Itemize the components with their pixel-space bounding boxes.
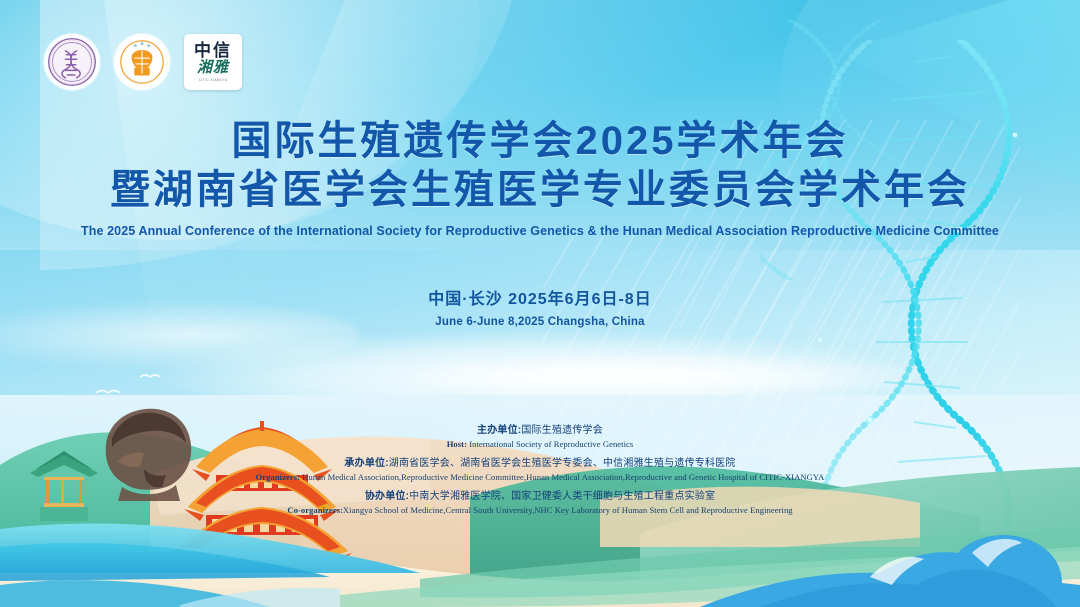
citic-mid-text: 湘雅 (197, 61, 229, 76)
organizers-chinese-label: 承办单位: (344, 458, 388, 469)
host-chinese: 主办单位:国际生殖遗传学会 (0, 424, 1080, 437)
cloud-band (150, 330, 930, 416)
host-chinese-value: 国际生殖遗传学会 (521, 425, 603, 436)
host-chinese-label: 主办单位: (477, 425, 521, 436)
host-english-label: Host: (447, 439, 467, 449)
title-chinese-line1: 国际生殖遗传学会2025学术年会 (0, 118, 1080, 164)
title-chinese-line2: 暨湖南省医学会生殖医学专业委员会学术年会 (0, 166, 1080, 214)
host-english-value: International Society of Reproductive Ge… (469, 439, 633, 449)
organizer-row-organizers: 承办单位:湖南省医学会、湖南省医学会生殖医学专委会、中信湘雅生殖与遗传专科医院 … (0, 457, 1080, 483)
organizer-row-coorganizers: 协办单位:中南大学湘雅医学院、国家卫健委人类干细胞与生殖工程重点实验室 Co-o… (0, 490, 1080, 516)
date-english: June 6-June 8,2025 Changsha, China (0, 316, 1080, 328)
conference-poster: 中信 湘雅 CITIC-XIANGYA 国际生殖遗传学会2025学术年会 暨湖南… (0, 0, 1080, 607)
organizers-english-label: Organizers: (256, 472, 300, 482)
citic-top-text: 中信 (194, 42, 232, 59)
coorganizers-chinese: 协办单位:中南大学湘雅医学院、国家卫健委人类干细胞与生殖工程重点实验室 (0, 490, 1080, 503)
title-english: The 2025 Annual Conference of the Intern… (0, 224, 1080, 238)
coorganizers-english: Co-organizers:Xiangya School of Medicine… (0, 504, 1080, 516)
citic-bottom-text: CITIC-XIANGYA (199, 79, 228, 82)
coorganizers-english-label: Co-organizers: (287, 505, 343, 515)
date-chinese: 中国·长沙 2025年6月6日-8日 (0, 285, 1080, 309)
organizers-chinese: 承办单位:湖南省医学会、湖南省医学会生殖医学专委会、中信湘雅生殖与遗传专科医院 (0, 457, 1080, 470)
coorganizers-chinese-value: 中南大学湘雅医学院、国家卫健委人类干细胞与生殖工程重点实验室 (409, 491, 715, 502)
logo-hunan-medical-association[interactable] (114, 34, 170, 90)
organizers-english-value: Hunan Medical Association,Reproductive M… (302, 472, 824, 482)
coorganizers-chinese-label: 协办单位: (365, 491, 409, 502)
organizers-chinese-value: 湖南省医学会、湖南省医学会生殖医学专委会、中信湘雅生殖与遗传专科医院 (389, 458, 736, 469)
logo-bar: 中信 湘雅 CITIC-XIANGYA (44, 34, 242, 90)
organizer-row-host: 主办单位:国际生殖遗传学会 Host: International Societ… (0, 424, 1080, 450)
cloud-band-highlight (420, 352, 940, 400)
organizers-english: Organizers: Hunan Medical Association,Re… (0, 471, 1080, 483)
date-location-block: 中国·长沙 2025年6月6日-8日 June 6-June 8,2025 Ch… (0, 285, 1080, 328)
title-block: 国际生殖遗传学会2025学术年会 暨湖南省医学会生殖医学专业委员会学术年会 Th… (0, 118, 1080, 238)
host-english: Host: International Society of Reproduct… (0, 438, 1080, 450)
logo-isrg[interactable] (44, 34, 100, 90)
logo-citic-xiangya[interactable]: 中信 湘雅 CITIC-XIANGYA (184, 34, 242, 90)
coorganizers-english-value: Xiangya School of Medicine,Central South… (343, 505, 793, 515)
organizers-block: 主办单位:国际生殖遗传学会 Host: International Societ… (0, 424, 1080, 523)
